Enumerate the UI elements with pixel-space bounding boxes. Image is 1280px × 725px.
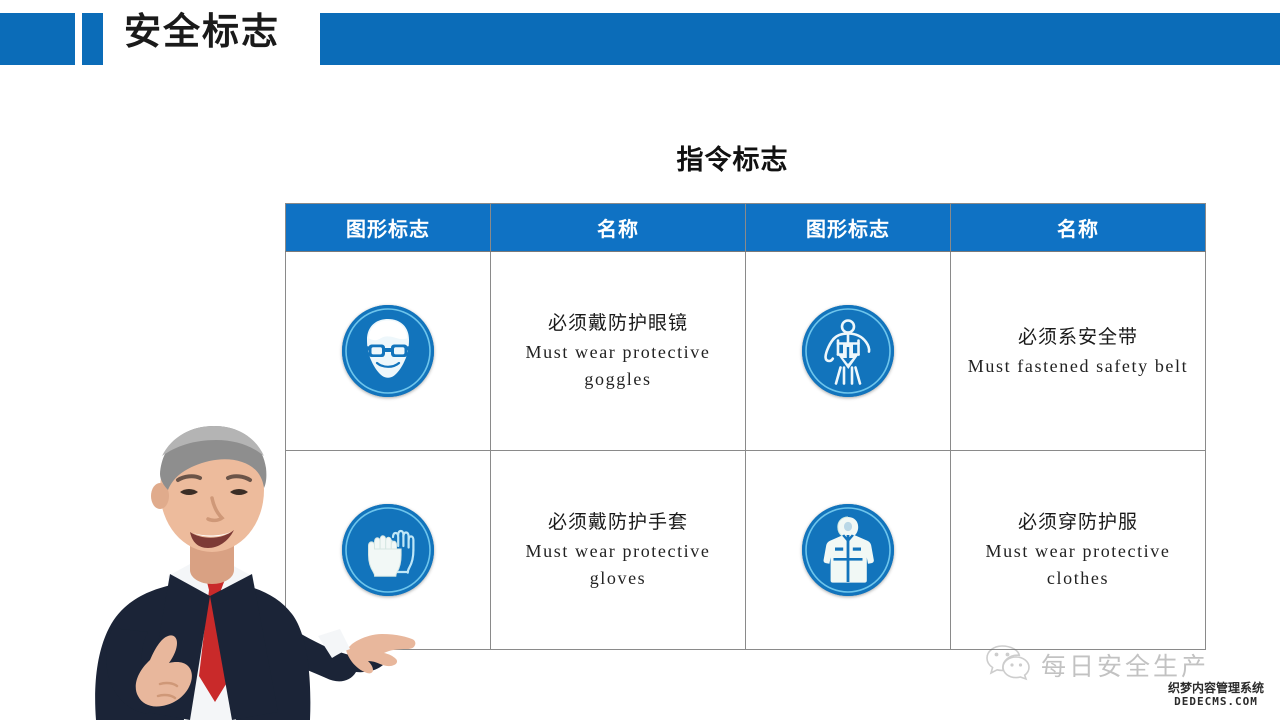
- cell-name-safety-belt: 必须系安全带 Must fastened safety belt: [951, 252, 1206, 451]
- sign-name-en: Must fastened safety belt: [959, 353, 1197, 380]
- cell-pictogram-goggles: [286, 252, 491, 451]
- cell-name-gloves: 必须戴防护手套 Must wear protective gloves: [491, 451, 746, 650]
- table-head: 图形标志 名称 图形标志 名称: [286, 204, 1206, 252]
- cell-name-protective-clothes: 必须穿防护服 Must wear protective clothes: [951, 451, 1206, 650]
- sign-name-cn: 必须戴防护手套: [499, 508, 737, 538]
- dedecms-en-label: DEDECMS.COM: [1168, 695, 1264, 708]
- table-row: 必须戴防护手套 Must wear protective gloves: [286, 451, 1206, 650]
- section-heading-label: 指令标志: [677, 138, 789, 177]
- dedecms-watermark: 织梦内容管理系统 DEDECMS.COM: [1168, 681, 1264, 708]
- wechat-watermark: 每日安全生产: [985, 643, 1209, 686]
- sign-name-cn: 必须系安全带: [959, 323, 1197, 353]
- protective-goggles-icon: [342, 305, 434, 397]
- safety-harness-belt-icon: [802, 305, 894, 397]
- banner-accent-block-thin: [82, 13, 103, 65]
- mandatory-signs-table: 图形标志 名称 图形标志 名称: [285, 203, 1206, 650]
- column-header-name-1: 名称: [491, 204, 746, 252]
- cell-pictogram-gloves: [286, 451, 491, 650]
- cell-pictogram-safety-belt: [746, 252, 951, 451]
- cell-pictogram-protective-clothes: [746, 451, 951, 650]
- table-row: 必须戴防护眼镜 Must wear protective goggles: [286, 252, 1206, 451]
- column-header-pictogram-2: 图形标志: [746, 204, 951, 252]
- sign-name-cn: 必须穿防护服: [959, 508, 1197, 538]
- section-heading: 指令标志: [0, 138, 1280, 177]
- wechat-brand-label: 每日安全生产: [1041, 647, 1209, 683]
- sign-name-en: Must wear protective clothes: [959, 538, 1197, 592]
- cell-name-goggles: 必须戴防护眼镜 Must wear protective goggles: [491, 252, 746, 451]
- protective-clothes-icon: [802, 504, 894, 596]
- table-header-row: 图形标志 名称 图形标志 名称: [286, 204, 1206, 252]
- wechat-icon: [985, 643, 1031, 686]
- column-header-name-2: 名称: [951, 204, 1206, 252]
- page-title: 安全标志: [124, 10, 280, 54]
- sign-name-en: Must wear protective gloves: [499, 538, 737, 592]
- table-body: 必须戴防护眼镜 Must wear protective goggles: [286, 252, 1206, 650]
- banner-accent-block-wide: [0, 13, 75, 65]
- protective-gloves-icon: [342, 504, 434, 596]
- sign-name-en: Must wear protective goggles: [499, 339, 737, 393]
- banner-accent-block-right: [320, 13, 1280, 65]
- column-header-pictogram-1: 图形标志: [286, 204, 491, 252]
- sign-name-cn: 必须戴防护眼镜: [499, 309, 737, 339]
- dedecms-cn-label: 织梦内容管理系统: [1168, 681, 1264, 695]
